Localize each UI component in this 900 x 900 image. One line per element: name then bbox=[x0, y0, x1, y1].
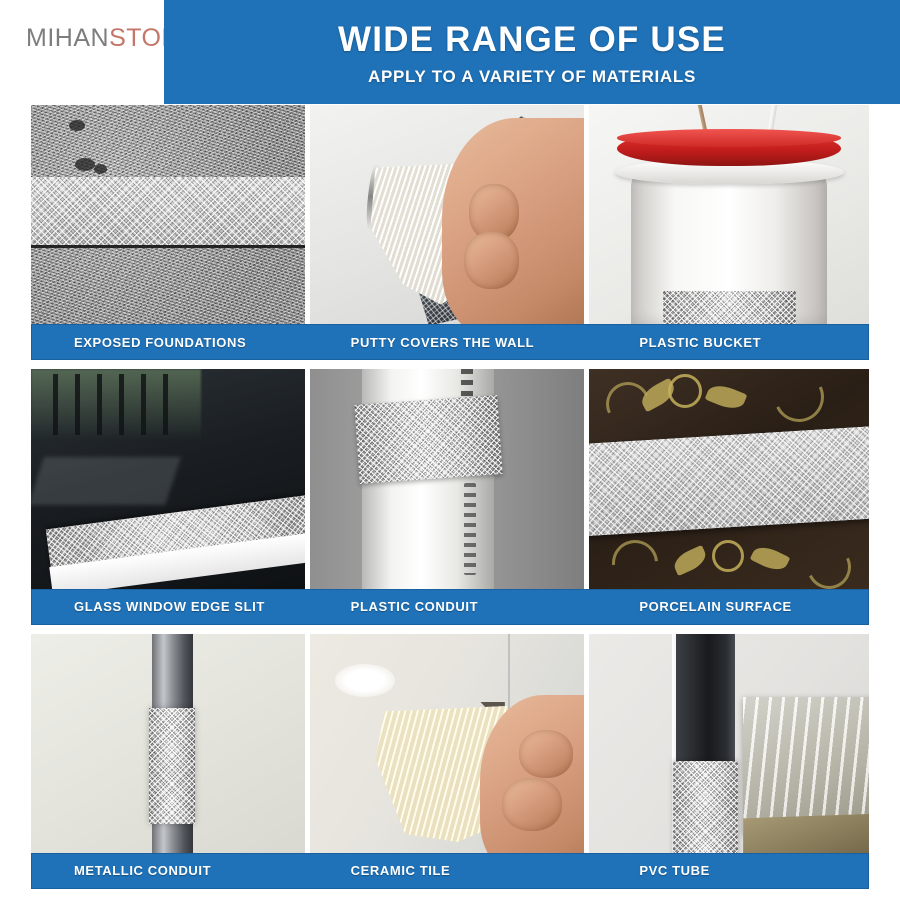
header-banner: WIDE RANGE OF USE APPLY TO A VARIETY OF … bbox=[164, 0, 900, 104]
label-putty-covers-the-wall: PUTTY COVERS THE WALL bbox=[303, 325, 580, 359]
tape-wrap-on-metal-conduit bbox=[149, 708, 196, 824]
label-plastic-conduit: PLASTIC CONDUIT bbox=[303, 590, 580, 624]
foil-tape-sheet bbox=[743, 697, 869, 833]
railing-bar bbox=[97, 374, 102, 435]
label-plastic-bucket: PLASTIC BUCKET bbox=[579, 325, 868, 359]
photo-metallic-conduit bbox=[31, 634, 305, 853]
railing-bar bbox=[119, 374, 124, 435]
page-header: MIHANSTORE WIDE RANGE OF USE APPLY TO A … bbox=[0, 0, 900, 104]
brand-name-primary: MIHAN bbox=[26, 24, 109, 52]
silver-tape-band bbox=[589, 426, 869, 537]
page-subtitle: APPLY TO A VARIETY OF MATERIALS bbox=[368, 67, 696, 87]
reflected-pavement bbox=[31, 457, 181, 505]
railing-bar bbox=[163, 374, 168, 435]
label-pvc-tube: PVC TUBE bbox=[579, 854, 868, 888]
infographic-page: MIHANSTORE WIDE RANGE OF USE APPLY TO A … bbox=[0, 0, 900, 900]
photo-plastic-bucket bbox=[589, 105, 869, 324]
wall-blemish-icon bbox=[75, 158, 95, 171]
finger bbox=[519, 730, 574, 778]
label-glass-window-edge-slit: GLASS WINDOW EDGE SLIT bbox=[32, 590, 303, 624]
page-title: WIDE RANGE OF USE bbox=[338, 21, 726, 59]
tape-wrap-on-pvc-tube bbox=[673, 761, 737, 853]
tape-band-on-bucket bbox=[663, 291, 796, 325]
bucket-body bbox=[631, 171, 827, 325]
tape-wrap-on-conduit bbox=[354, 395, 502, 484]
finger bbox=[502, 778, 562, 831]
photo-row-3 bbox=[31, 634, 869, 853]
photo-putty-covers-the-wall bbox=[310, 105, 584, 324]
grid-row-2: GLASS WINDOW EDGE SLIT PLASTIC CONDUIT P… bbox=[31, 369, 869, 624]
railing-bar bbox=[53, 374, 58, 435]
aluminium-tape-band bbox=[31, 177, 305, 245]
label-bar-row-2: GLASS WINDOW EDGE SLIT PLASTIC CONDUIT P… bbox=[31, 589, 869, 625]
label-exposed-foundations: EXPOSED FOUNDATIONS bbox=[32, 325, 303, 359]
photo-plastic-conduit bbox=[310, 369, 584, 588]
photo-exposed-foundations bbox=[31, 105, 305, 324]
label-ceramic-tile: CERAMIC TILE bbox=[303, 854, 580, 888]
grid-row-3: METALLIC CONDUIT CERAMIC TILE PVC TUBE bbox=[31, 634, 869, 889]
railing-bar bbox=[141, 374, 146, 435]
bucket-lid-top bbox=[617, 129, 841, 147]
pipe-print-top bbox=[461, 369, 473, 400]
label-porcelain-surface: PORCELAIN SURFACE bbox=[579, 590, 868, 624]
tape-edge-shadow bbox=[31, 245, 305, 248]
photo-porcelain-surface bbox=[589, 369, 869, 588]
railing-bar bbox=[75, 374, 80, 435]
grid-row-1: EXPOSED FOUNDATIONS PUTTY COVERS THE WAL… bbox=[31, 105, 869, 360]
finger bbox=[464, 232, 519, 289]
label-bar-row-1: EXPOSED FOUNDATIONS PUTTY COVERS THE WAL… bbox=[31, 324, 869, 360]
photo-pvc-tube bbox=[589, 634, 869, 853]
foil-tape-sheet-lower bbox=[743, 814, 869, 853]
label-metallic-conduit: METALLIC CONDUIT bbox=[32, 854, 303, 888]
label-bar-row-3: METALLIC CONDUIT CERAMIC TILE PVC TUBE bbox=[31, 853, 869, 889]
photo-row-1 bbox=[31, 105, 869, 324]
pipe-print-text bbox=[464, 483, 476, 575]
use-case-grid: EXPOSED FOUNDATIONS PUTTY COVERS THE WAL… bbox=[31, 105, 869, 889]
photo-row-2 bbox=[31, 369, 869, 588]
photo-glass-window-edge-slit bbox=[31, 369, 305, 588]
photo-ceramic-tile bbox=[310, 634, 584, 853]
